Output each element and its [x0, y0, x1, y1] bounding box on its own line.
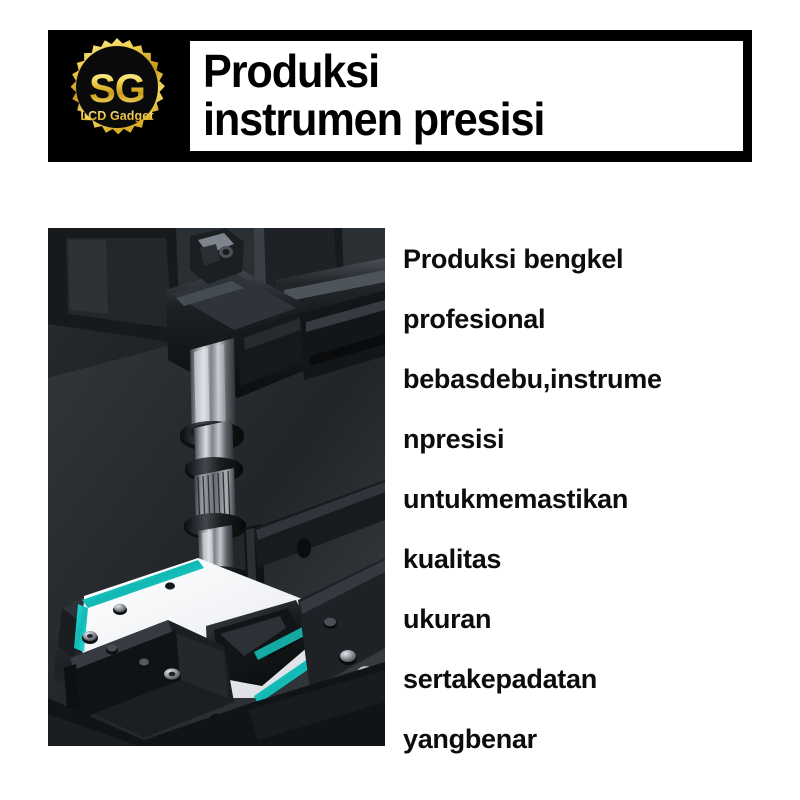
- machine-illustration: [48, 228, 385, 746]
- feature-line: profesional: [403, 289, 763, 349]
- feature-text-list: Produksi bengkel profesional bebasdebu,i…: [403, 229, 763, 769]
- brand-tagline: LCD Gadget: [80, 109, 153, 123]
- page-title-line-1: Produksi: [203, 48, 711, 96]
- feature-line: bebasdebu,instrume: [403, 349, 763, 409]
- feature-line: yangbenar: [403, 709, 763, 769]
- page-title-line-2: instrumen presisi: [203, 96, 711, 144]
- page-title-box: Produksi instrumen presisi: [185, 36, 748, 156]
- brand-logo-text: SG LCD Gadget: [52, 32, 182, 162]
- feature-line: Produksi bengkel: [403, 229, 763, 289]
- precision-cnc-machine-photo: [48, 228, 385, 746]
- brand-logo: SG LCD Gadget: [52, 32, 182, 162]
- feature-line: sertakepadatan: [403, 649, 763, 709]
- feature-line: untukmemastikan: [403, 469, 763, 529]
- feature-line: kualitas: [403, 529, 763, 589]
- feature-line: npresisi: [403, 409, 763, 469]
- brand-initials: SG: [89, 71, 145, 108]
- feature-line: ukuran: [403, 589, 763, 649]
